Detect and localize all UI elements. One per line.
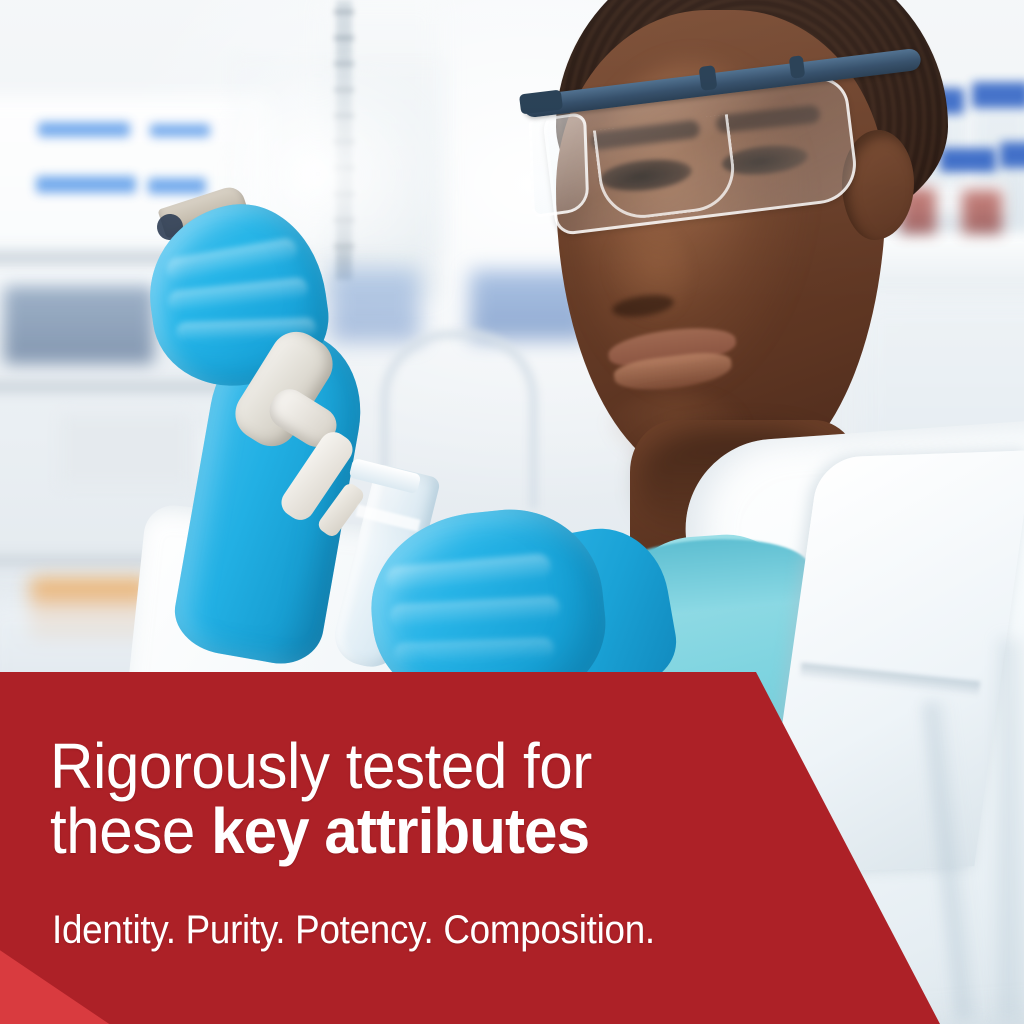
background-blue-label [150, 124, 210, 137]
headline-line-1: Rigorously tested for [50, 730, 592, 802]
background-red-vial [962, 190, 1002, 234]
poster-root: Rigorously tested for these key attribut… [0, 0, 1024, 1024]
safety-goggles-hinge [699, 65, 718, 91]
background-bottle-cap [940, 148, 996, 172]
headline-line-2-bold: key attributes [211, 795, 589, 867]
banner-text-block: Rigorously tested for these key attribut… [0, 666, 1024, 1024]
background-blue-label [148, 178, 206, 194]
background-bottle-cap [972, 82, 1024, 108]
background-blue-label [36, 176, 136, 193]
safety-goggles-side-shield [529, 112, 590, 219]
headline: Rigorously tested for these key attribut… [50, 734, 592, 865]
background-bottle-cap [1000, 142, 1024, 168]
background-blue-label [38, 122, 130, 137]
background-blue-container [4, 286, 154, 364]
background-equipment-box [60, 415, 190, 485]
headline-line-2-normal: these [50, 795, 211, 867]
headline-line-2: these key attributes [50, 799, 592, 864]
subheadline: Identity. Purity. Potency. Composition. [52, 908, 655, 953]
background-blue-tray [330, 268, 420, 342]
safety-goggles-hinge [789, 55, 806, 79]
